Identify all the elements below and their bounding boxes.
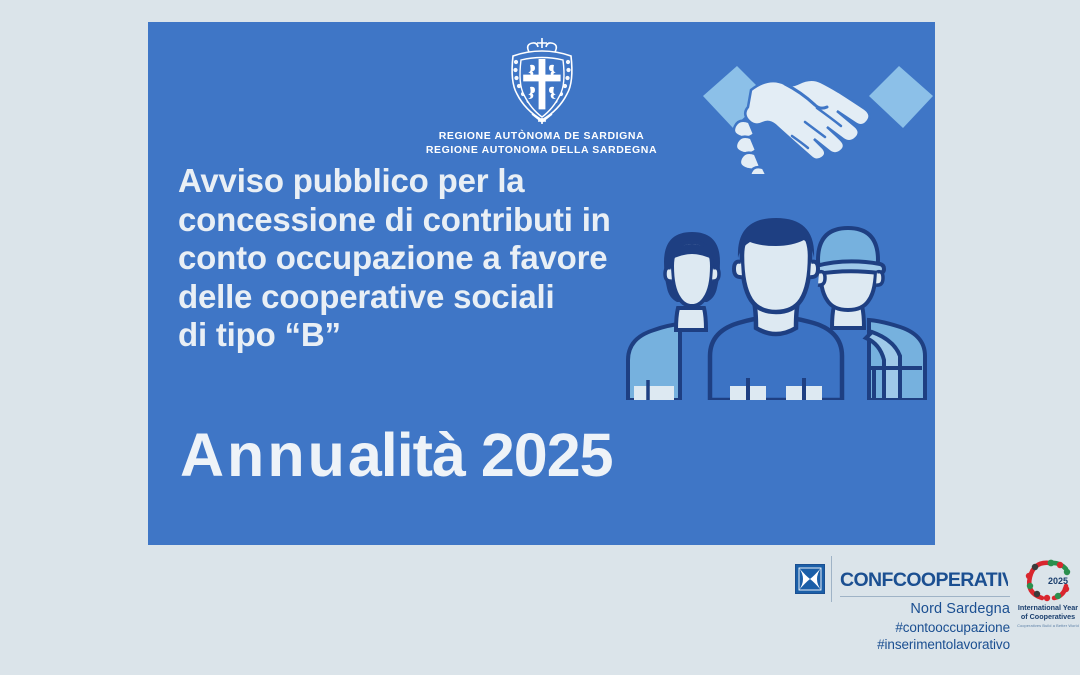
iyc-title-line-2: of Cooperatives (1017, 612, 1079, 621)
logo-rule (840, 596, 1010, 597)
iyc-tagline: Cooperatives Build a Better World (1017, 624, 1079, 629)
confcooperative-subtitle: Nord Sardegna #contooccupazione #inserim… (795, 600, 1010, 653)
iyc-title: International Year of Cooperatives (1017, 603, 1079, 621)
logo-divider (831, 556, 832, 602)
sardinia-coat-of-arms-icon (499, 32, 585, 124)
year-headline: Annualità 2025 (180, 420, 613, 490)
hashtag-contooccupazione: #contooccupazione (795, 619, 1010, 636)
footer-logos: CONFCOOPERATIVE Nord Sardegna #contooccu… (795, 556, 1080, 651)
confcooperative-mark-icon (795, 564, 825, 594)
page-title: Avviso pubblico per la concessione di co… (178, 162, 698, 355)
year-part-2: u (308, 421, 348, 489)
heading-line-2: concessione di contributi in (178, 201, 698, 240)
heading-line-3: conto occupazione a favore (178, 239, 698, 278)
heading-line-4: delle cooperative sociali (178, 278, 698, 317)
year-part-1: Ann (180, 421, 308, 489)
heading-line-1: Avviso pubblico per la (178, 162, 698, 201)
iyc-year: 2025 (1048, 576, 1068, 586)
iyc-title-line-1: International Year (1017, 603, 1079, 612)
international-year-of-cooperatives-logo: 2025 International Year of Cooperatives … (1017, 558, 1079, 628)
confcooperative-wordmark-text: CONFCOOPERATIVE (840, 569, 1008, 590)
international-year-of-cooperatives-emblem-icon: 2025 (1020, 558, 1076, 602)
hashtag-inserimentolavorativo: #inserimentolavorativo (795, 636, 1010, 653)
handshake-icon (693, 44, 935, 174)
poster-panel: REGIONE AUTÒNOMA DE SARDIGNA REGIONE AUT… (148, 22, 935, 545)
confcooperative-wordmark: CONFCOOPERATIVE (840, 568, 1008, 590)
confcooperative-region: Nord Sardegna (795, 600, 1010, 619)
heading-line-5: di tipo “B” (178, 316, 698, 355)
confcooperative-logo: CONFCOOPERATIVE Nord Sardegna #contooccu… (795, 556, 1010, 602)
year-part-3: alità 2025 (348, 421, 613, 489)
